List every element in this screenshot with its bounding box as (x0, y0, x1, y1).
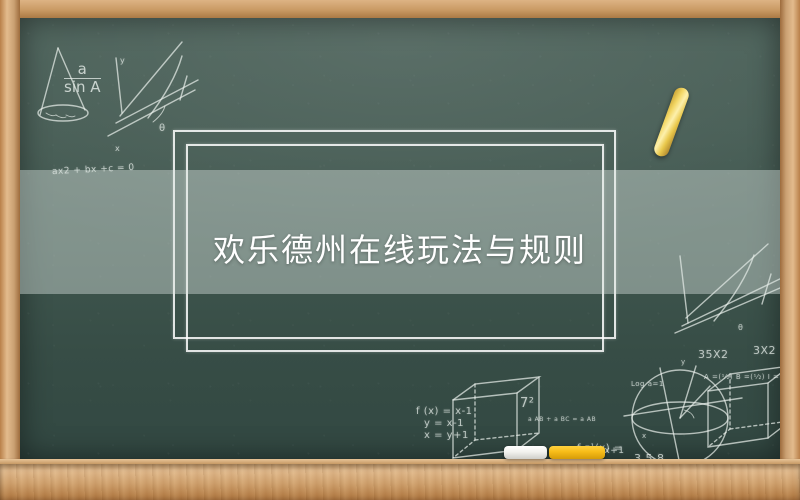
white-chalk-piece-icon (504, 446, 547, 459)
chalk-ledge (0, 464, 800, 500)
frame-left-edge (0, 0, 20, 500)
yellow-chalk-piece-icon (549, 446, 605, 459)
frame-right-edge (780, 0, 800, 500)
page-title: 欢乐德州在线玩法与规则 (0, 225, 800, 271)
frame-top-edge (0, 0, 800, 18)
screenshot-root: ax2 + bx +c = 0yxθf (x) = x-1y = x-1x = … (0, 0, 800, 500)
